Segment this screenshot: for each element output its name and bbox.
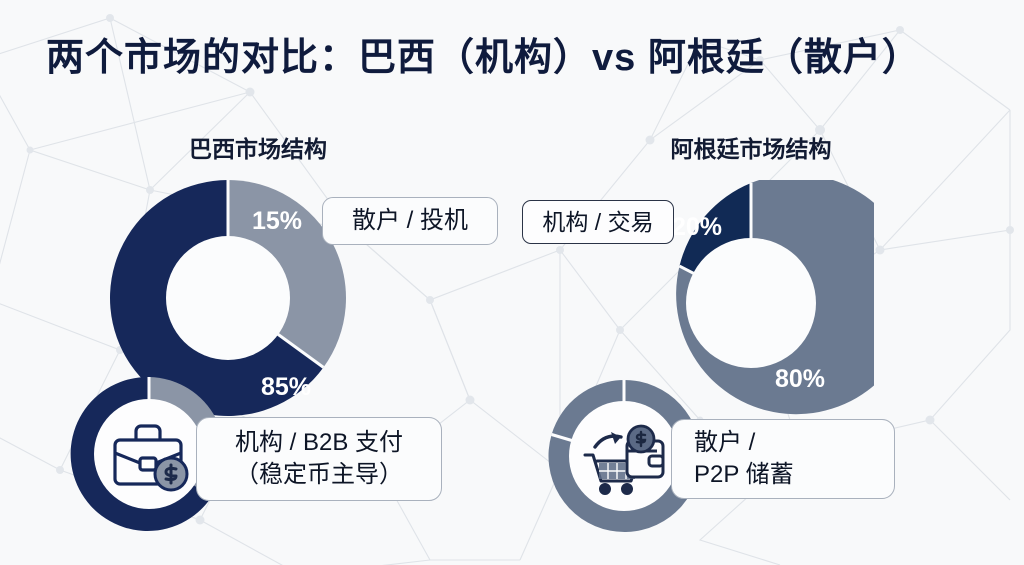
callout-institutional-b2b-line2: （稳定币主导） <box>235 459 403 491</box>
panel-title-argentina: 阿根廷市场结构 <box>640 130 862 164</box>
callout-retail-speculation-label: 散户 / 投机 <box>352 205 468 237</box>
donut-value-label-institutional-brazil: 85% <box>261 373 311 402</box>
callout-institutional-trading[interactable]: 机构 / 交易 <box>522 200 674 244</box>
panel-title-brazil: 巴西市场结构 <box>148 130 368 164</box>
donut-value-label-retail-brazil: 15% <box>252 207 302 236</box>
callout-institutional-b2b-line1: 机构 / B2B 支付 <box>235 427 403 459</box>
donut-value-label-institutional-argentina: 20% <box>672 213 722 242</box>
slide-canvas: 两个市场的对比：巴西（机构）vs 阿根廷（散户） 巴西市场结构 15% 85% … <box>0 0 1024 565</box>
callout-institutional-b2b[interactable]: 机构 / B2B 支付 （稳定币主导） <box>196 417 442 501</box>
callout-retail-p2p-line1: 散户 / <box>694 427 794 459</box>
donut-value-label-retail-argentina: 80% <box>775 365 825 394</box>
callout-retail-p2p-line2: P2P 储蓄 <box>694 459 794 491</box>
callout-retail-p2p[interactable]: 散户 / P2P 储蓄 <box>671 419 895 499</box>
page-title: 两个市场的对比：巴西（机构）vs 阿根廷（散户） <box>46 26 921 81</box>
callout-retail-speculation[interactable]: 散户 / 投机 <box>322 197 498 245</box>
callout-institutional-trading-label: 机构 / 交易 <box>542 207 653 237</box>
